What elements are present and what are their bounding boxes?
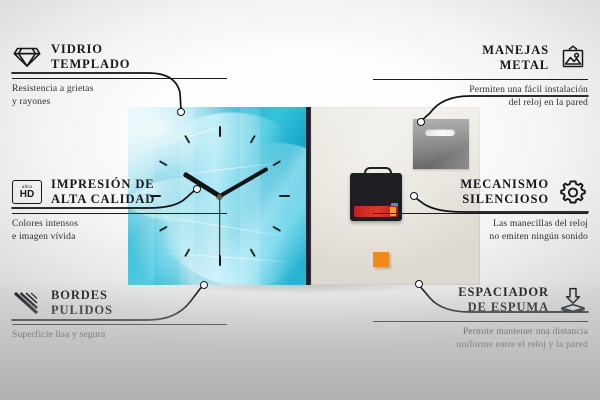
feature-title-line2: SILENCIOSO (462, 192, 549, 206)
feature-title: VIDRIOTEMPLADO (51, 42, 130, 73)
feature-title-line2: ALTA CALIDAD (51, 192, 155, 206)
feature-header: VIDRIOTEMPLADO (12, 42, 227, 73)
feature-header: ultra HD IMPRESIÓN DEALTA CALIDAD (12, 177, 227, 208)
feature-title-line1: MANEJAS (482, 43, 549, 57)
feature-subtitle: Resistencia a grietasy rayones (12, 83, 227, 109)
picture-hanger-icon (558, 45, 588, 71)
ultra-hd-badge: ultra HD (12, 180, 42, 204)
feature-subtitle-line1: Las manecillas del reloj (493, 218, 588, 229)
foam-spacer-icon (558, 287, 588, 313)
gear-icon (558, 179, 588, 205)
feature-title-line2: METAL (500, 58, 549, 72)
feature-subtitle: Permite mantener una distanciauniforme e… (373, 326, 588, 352)
feature-bordes-pulidos: BORDESPULIDOS Superficie lisa y segura (12, 288, 227, 342)
diamond-icon (12, 44, 42, 70)
feature-title: MANEJASMETAL (482, 43, 549, 74)
feature-title-line1: ESPACIADOR (458, 285, 549, 299)
hanger-slot (425, 129, 455, 136)
feature-subtitle: Superficie lisa y segura (12, 329, 227, 342)
feature-subtitle-line2: no emiten ningún sonido (489, 231, 588, 242)
feature-title: ESPACIADORDE ESPUMA (458, 285, 549, 316)
ultra-hd-icon: ultra HD (12, 179, 42, 205)
feature-manejas-metal: MANEJASMETAL Permiten una fácil instalac… (373, 43, 588, 110)
feature-impresion-alta-calidad: ultra HD IMPRESIÓN DEALTA CALIDAD Colore… (12, 177, 227, 244)
feature-subtitle-line1: Superficie lisa y segura (12, 329, 105, 340)
connector-dot-vidrio-templado (177, 108, 185, 116)
feature-subtitle: Permiten una fácil instalacióndel reloj … (373, 84, 588, 110)
ultra-hd-large-text: HD (20, 190, 34, 200)
feature-divider (373, 79, 588, 81)
feature-subtitle-line1: Resistencia a grietas (12, 83, 93, 94)
feature-title: BORDESPULIDOS (51, 288, 113, 319)
feature-title-line1: MECANISMO (460, 177, 549, 191)
metal-hanger-plate (413, 119, 469, 169)
feature-subtitle-line2: del reloj en la pared (509, 97, 588, 108)
feature-subtitle-line2: uniforme entre el reloj y la pared (457, 339, 588, 350)
connector-dot-manejas (417, 118, 425, 126)
feature-divider (12, 78, 227, 80)
feature-subtitle: Las manecillas del relojno emiten ningún… (373, 218, 588, 244)
feature-subtitle-line1: Permiten una fácil instalación (469, 84, 588, 95)
feature-subtitle-line1: Colores intensos (12, 218, 78, 229)
feature-vidrio-templado: VIDRIOTEMPLADO Resistencia a grietasy ra… (12, 42, 227, 109)
feature-header: MECANISMOSILENCIOSO (373, 177, 588, 208)
feature-title-line2: PULIDOS (51, 303, 113, 317)
feature-header: MANEJASMETAL (373, 43, 588, 74)
feature-title: IMPRESIÓN DEALTA CALIDAD (51, 177, 155, 208)
beveled-edge-icon (12, 290, 42, 316)
feature-title: MECANISMOSILENCIOSO (460, 177, 549, 208)
feature-title-line2: TEMPLADO (51, 57, 130, 71)
feature-espaciador-espuma: ESPACIADORDE ESPUMA Permite mantener una… (373, 285, 588, 352)
feature-subtitle-line2: e imagen vívida (12, 231, 76, 242)
infographic-canvas: VIDRIOTEMPLADO Resistencia a grietasy ra… (0, 0, 600, 400)
feature-title-line2: DE ESPUMA (468, 300, 549, 314)
feature-divider (12, 213, 227, 215)
feature-header: ESPACIADORDE ESPUMA (373, 285, 588, 316)
feature-subtitle-line2: y rayones (12, 96, 50, 107)
feature-title-line1: VIDRIO (51, 42, 103, 56)
foam-spacer (373, 252, 389, 267)
feature-mecanismo-silencioso: MECANISMOSILENCIOSO Las manecillas del r… (373, 177, 588, 244)
feature-title-line1: IMPRESIÓN DE (51, 177, 155, 191)
feature-subtitle-line1: Permite mantener una distancia (463, 326, 588, 337)
feature-divider (373, 321, 588, 323)
feature-header: BORDESPULIDOS (12, 288, 227, 319)
feature-divider (12, 324, 227, 326)
feature-title-line1: BORDES (51, 288, 108, 302)
feature-divider (373, 213, 588, 215)
feature-subtitle: Colores intensose imagen vívida (12, 218, 227, 244)
